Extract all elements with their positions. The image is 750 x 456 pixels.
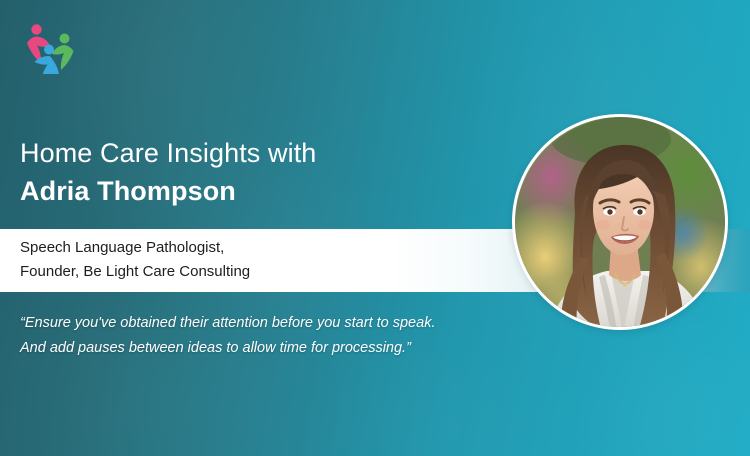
quote-text: “Ensure you've obtained their attention … — [20, 311, 520, 361]
title-line-1: Home Care Insights with — [20, 135, 500, 171]
quote-line-1: “Ensure you've obtained their attention … — [20, 311, 520, 336]
avatar-photo — [515, 117, 725, 327]
avatar — [512, 114, 728, 330]
page-title: Home Care Insights with Adria Thompson — [20, 135, 500, 209]
quote-line-2: And add pauses between ideas to allow ti… — [20, 336, 520, 361]
three-people-logo-icon — [16, 20, 82, 74]
credentials-text: Speech Language Pathologist, Founder, Be… — [20, 236, 440, 284]
home-care-insights-banner: Home Care Insights with Adria Thompson S… — [0, 0, 750, 456]
title-line-2: Adria Thompson — [20, 173, 500, 209]
credentials-line-1: Speech Language Pathologist, — [20, 236, 440, 260]
credentials-line-2: Founder, Be Light Care Consulting — [20, 260, 440, 284]
